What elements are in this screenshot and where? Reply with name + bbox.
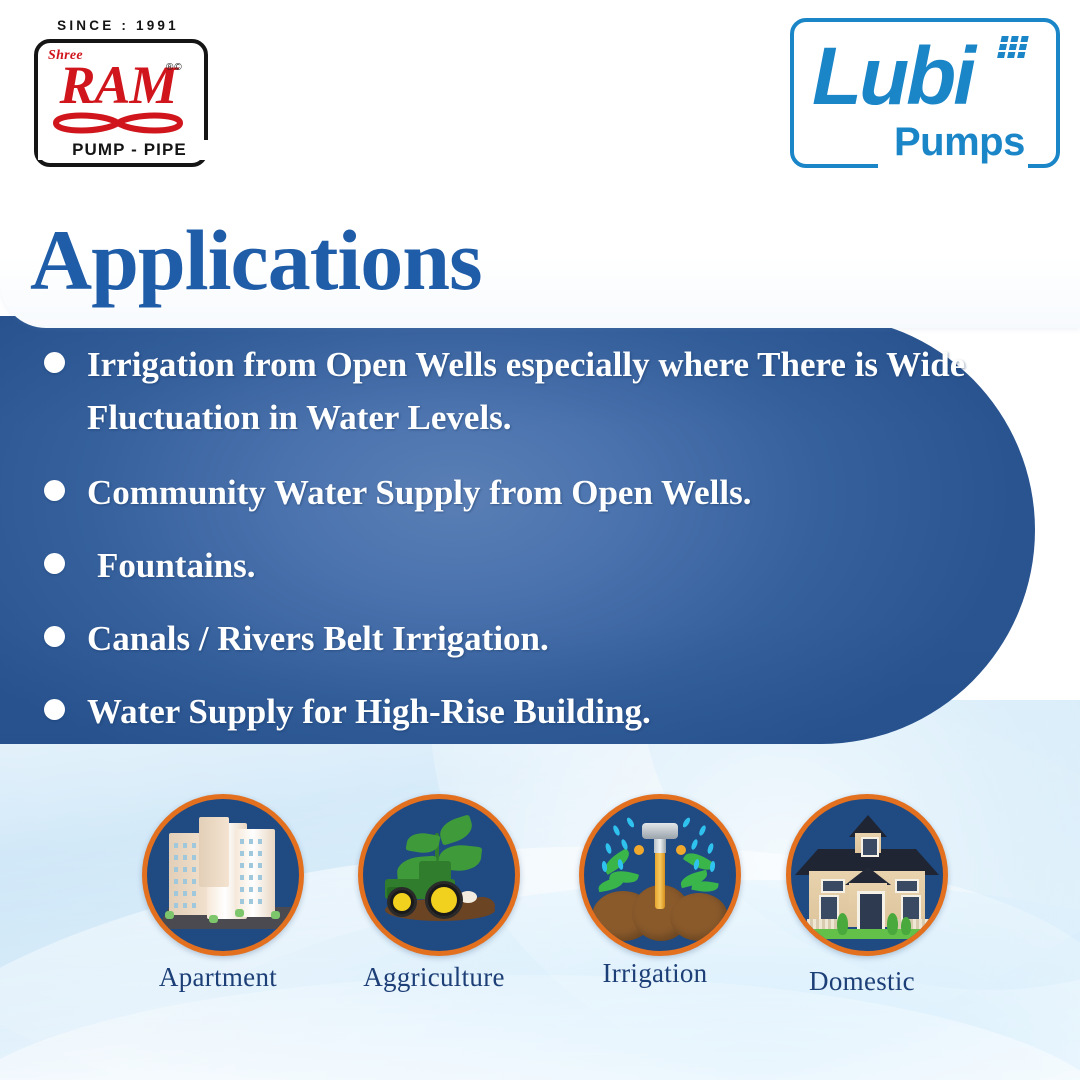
apartment-building-icon (142, 794, 304, 956)
category-aggriculture[interactable]: Aggriculture (358, 794, 520, 956)
category-label: Domestic (732, 966, 992, 997)
category-apartment[interactable]: Apartment (142, 794, 304, 956)
house-icon (786, 794, 948, 956)
sprinkler-icon (579, 794, 741, 956)
category-domestic[interactable]: Domestic (786, 794, 948, 956)
poster-canvas: SINCE : 1991 Shree RAM ®© PUMP - PIPE Lu… (0, 0, 1080, 1080)
tractor-plant-icon (358, 794, 520, 956)
category-irrigation[interactable]: Irrigation (579, 794, 741, 956)
category-icons: Apartment Aggriculture (0, 0, 1080, 1080)
